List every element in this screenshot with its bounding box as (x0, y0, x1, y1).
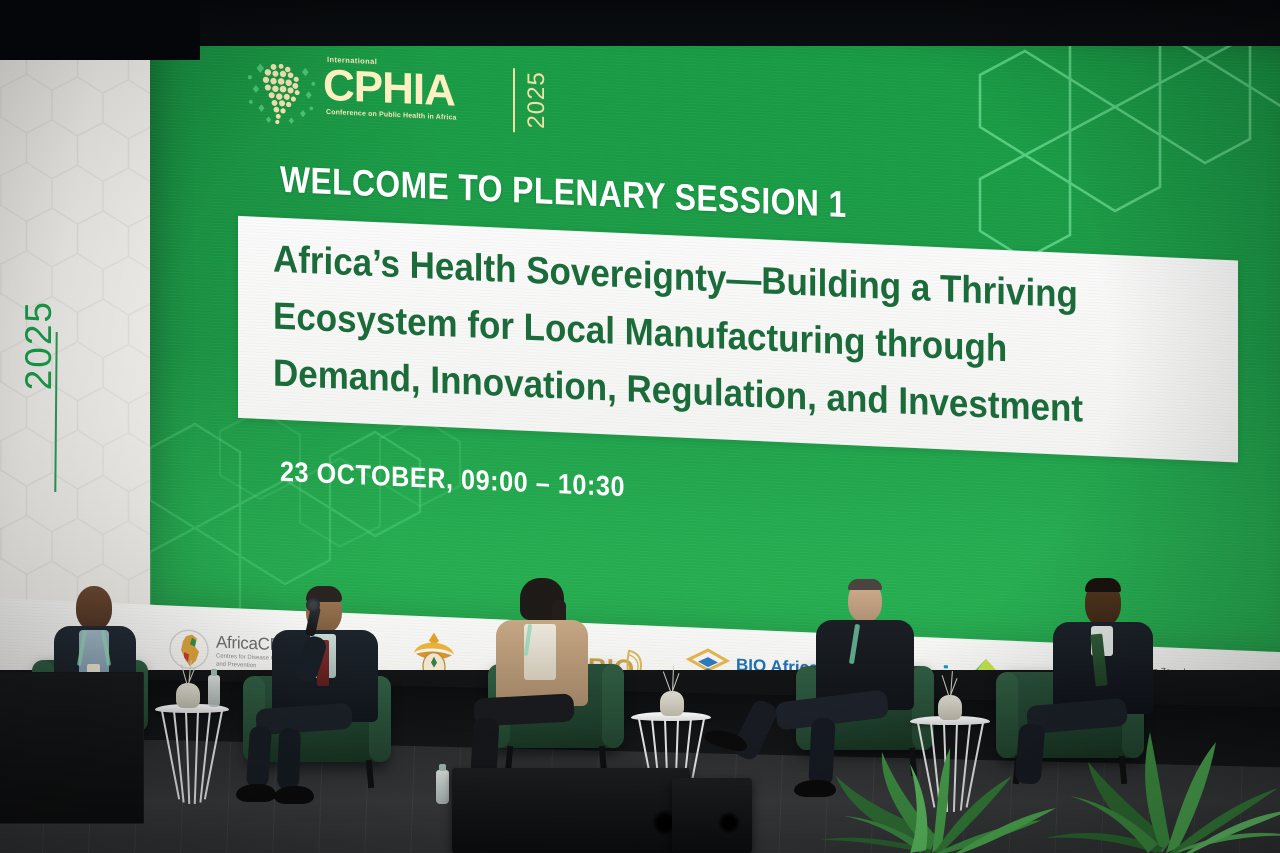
vase (176, 668, 200, 708)
plant-foliage-icon (1030, 676, 1280, 853)
water-bottle (436, 770, 449, 804)
session-title-card: Africa’s Health Sovereignty—Building a T… (238, 216, 1238, 463)
left-wall-year: 2025 (18, 300, 60, 390)
logo-wordmark: CPHIA (323, 64, 503, 116)
cphia-logo: International CPHIA Conference on Public… (245, 50, 565, 142)
panelist-2-shoe-l (236, 784, 276, 802)
panelist-3 (472, 578, 612, 778)
panelist-5-hair (1085, 578, 1121, 592)
stage-monitor (452, 768, 690, 853)
welcome-heading: WELCOME TO PLENARY SESSION 1 (280, 159, 847, 226)
logo-year: 2025 (523, 71, 551, 130)
stage-monitor (672, 778, 752, 853)
vase (660, 676, 684, 716)
foreground-plant (1030, 676, 1280, 853)
side-table (155, 704, 229, 800)
session-datetime: 23 OCTOBER, 09:00 – 10:30 (280, 456, 625, 503)
panelist-2-shin-l (246, 725, 272, 788)
panelist-2 (262, 588, 392, 798)
logo-divider (513, 68, 515, 132)
projection-screen: International CPHIA Conference on Public… (150, 0, 1280, 660)
panelist-1-head (76, 586, 112, 630)
podium (0, 672, 144, 824)
water-bottle (208, 675, 220, 707)
africa-map-dots-icon (245, 56, 321, 129)
panelist-4-hair (848, 579, 882, 590)
conference-photo: 2025 (0, 0, 1280, 853)
panelist-2-shoe-r (274, 786, 314, 804)
panelist-2-shin-r (277, 728, 301, 791)
ceiling-strip-left (0, 0, 200, 60)
microphone-head-icon (306, 598, 320, 612)
africa-cdc-logo-icon (168, 627, 210, 671)
